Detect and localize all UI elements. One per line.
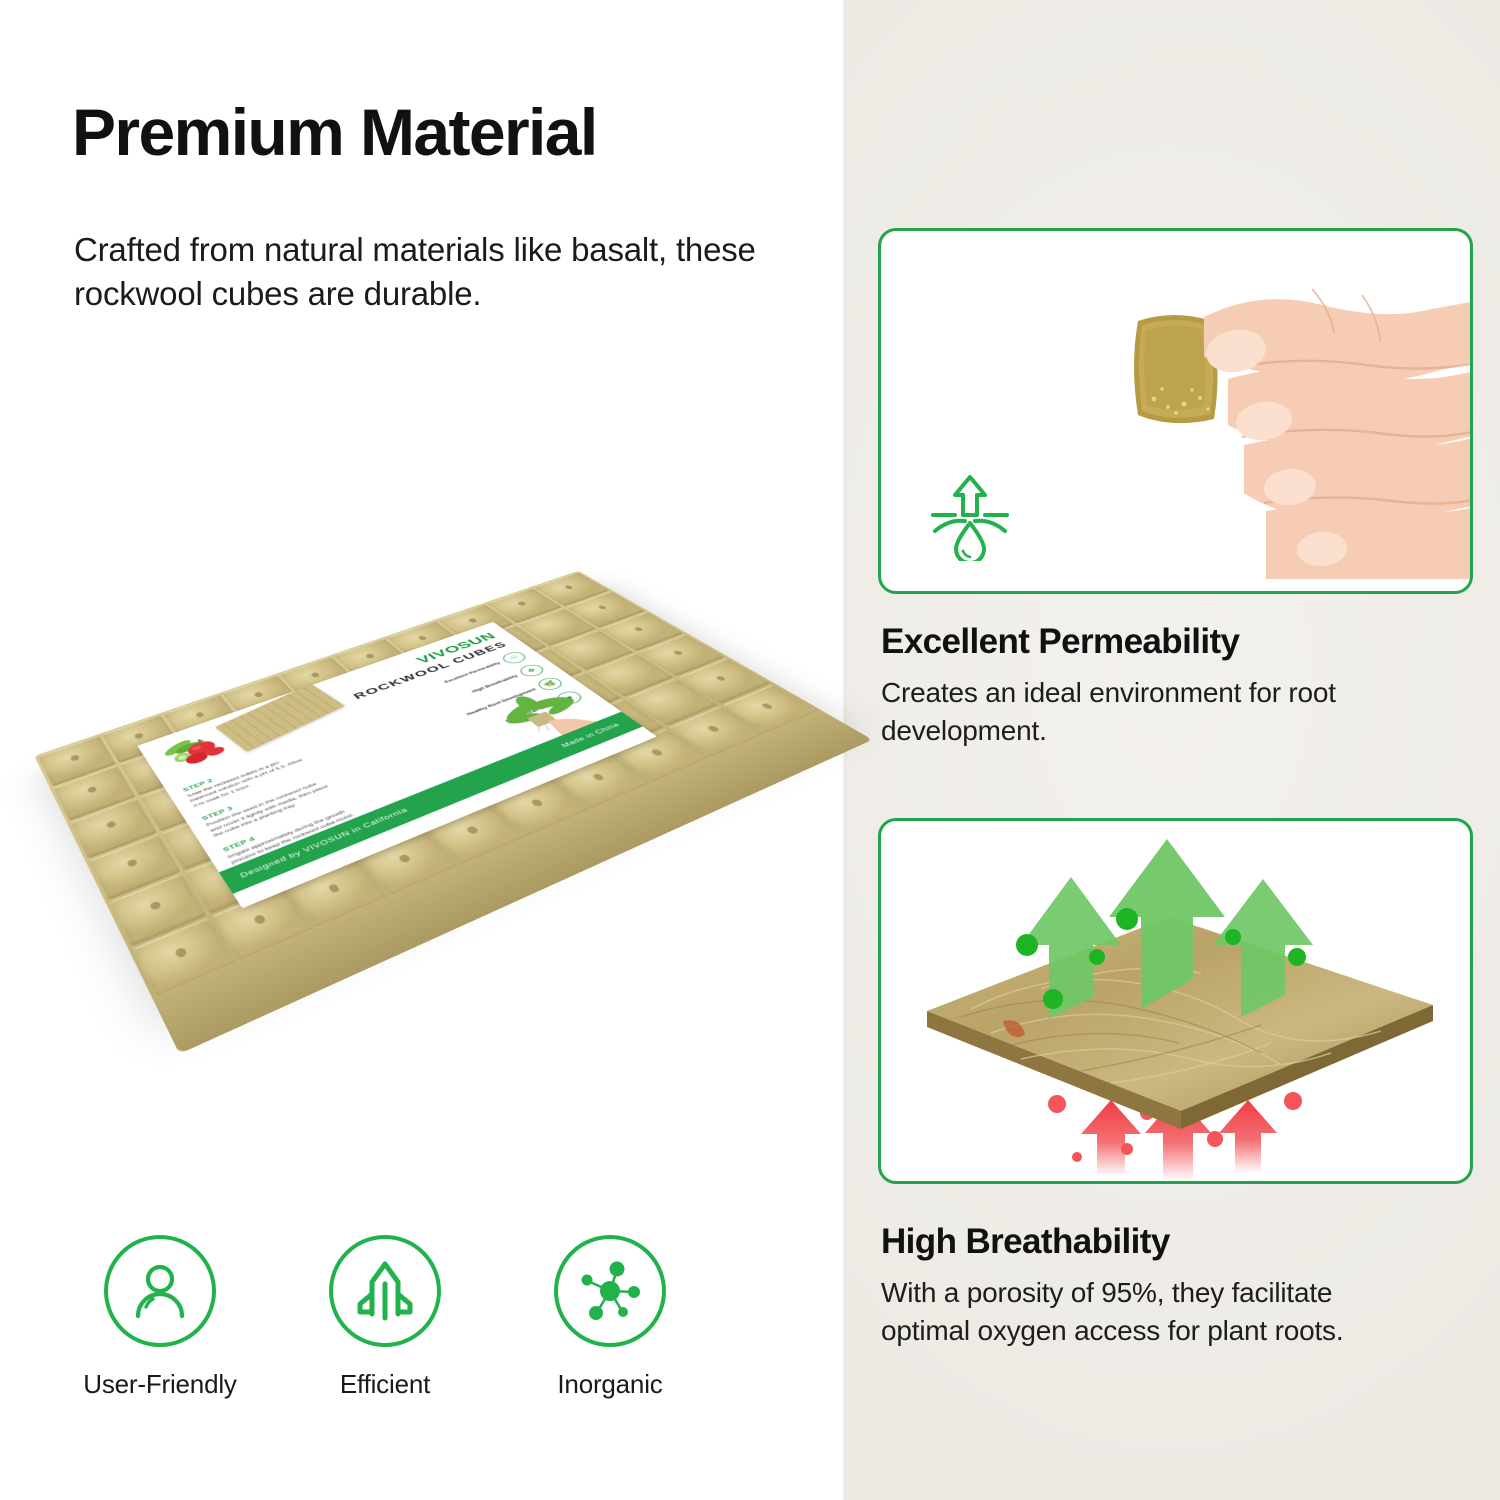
breathability-body: With a porosity of 95%, they facilitate … bbox=[881, 1274, 1401, 1350]
rockwool-cube bbox=[70, 798, 157, 858]
feature-user-friendly: User-Friendly bbox=[60, 1235, 260, 1400]
feature-efficient: Efficient bbox=[285, 1235, 485, 1400]
feature-icon-row: User-Friendly Efficient bbox=[60, 1235, 760, 1445]
feature-label: Efficient bbox=[285, 1369, 485, 1400]
product-feature-page: Premium Material Crafted from natural ma… bbox=[0, 0, 1500, 1500]
breathability-title: High Breathability bbox=[881, 1222, 1170, 1262]
molecule-icon bbox=[554, 1235, 666, 1347]
tray-wrapper: VIVOSUN ROCKWOOL CUBES Excellent Permeab… bbox=[8, 427, 862, 1123]
rockwool-slab-airflow-diagram bbox=[881, 821, 1470, 1181]
product-image-rockwool-tray: VIVOSUN ROCKWOOL CUBES Excellent Permeab… bbox=[40, 470, 830, 1080]
page-title: Premium Material bbox=[72, 98, 812, 167]
hand-holding-wet-rockwool-cube bbox=[881, 231, 1470, 591]
water-permeability-icon bbox=[927, 469, 1013, 561]
green-airflow-arrows bbox=[1021, 839, 1313, 1019]
label-step-text: Position the seed in the rockwool cube a… bbox=[205, 778, 335, 839]
user-icon bbox=[104, 1235, 216, 1347]
permeability-image-card bbox=[878, 228, 1473, 594]
breathability-image-card bbox=[878, 818, 1473, 1184]
feature-label: Inorganic bbox=[510, 1369, 710, 1400]
hand-photo bbox=[1076, 249, 1473, 579]
left-column: Premium Material Crafted from natural ma… bbox=[0, 0, 845, 1500]
permeability-body: Creates an ideal environment for root de… bbox=[881, 674, 1401, 750]
permeability-title: Excellent Permeability bbox=[881, 622, 1239, 662]
rockwool-cube bbox=[89, 834, 181, 900]
page-subtitle: Crafted from natural materials like basa… bbox=[74, 228, 844, 316]
rocket-icon bbox=[329, 1235, 441, 1347]
feature-label: User-Friendly bbox=[60, 1369, 260, 1400]
rockwool-cube bbox=[110, 874, 207, 947]
feature-inorganic: Inorganic bbox=[510, 1235, 710, 1400]
right-column: Excellent Permeability Creates an ideal … bbox=[845, 0, 1500, 1500]
rockwool-cube bbox=[38, 736, 116, 787]
rockwool-tray: VIVOSUN ROCKWOOL CUBES Excellent Permeab… bbox=[34, 571, 824, 1003]
